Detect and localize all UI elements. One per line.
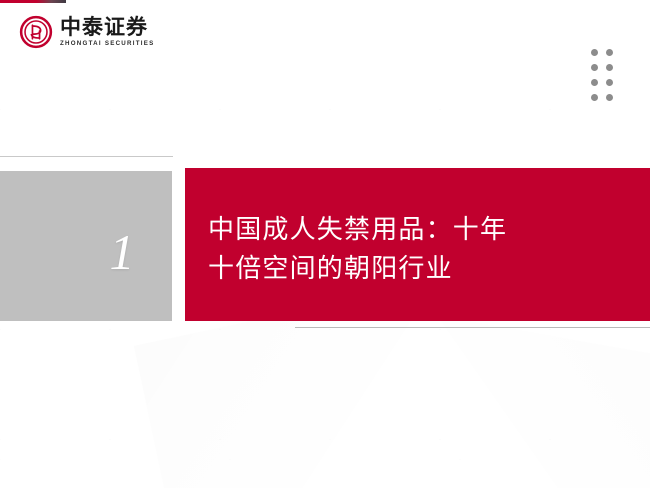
- brand-name-en: ZHONGTAI SECURITIES: [60, 41, 154, 47]
- grid-dot: [591, 94, 598, 101]
- decorative-dot-grid: [591, 49, 613, 101]
- brand-wordmark: 中泰证券 ZHONGTAI SECURITIES: [60, 17, 154, 47]
- brand-name-cn: 中泰证券: [60, 17, 154, 38]
- grid-dot: [606, 79, 613, 86]
- presentation-slide: 中泰证券 ZHONGTAI SECURITIES 1 中国成人失禁用品：十年 十…: [0, 0, 650, 488]
- grid-dot: [606, 64, 613, 71]
- section-title-banner: 中国成人失禁用品：十年 十倍空间的朝阳行业: [185, 168, 650, 321]
- section-title: 中国成人失禁用品：十年 十倍空间的朝阳行业: [208, 210, 618, 288]
- section-number: 1: [110, 223, 135, 281]
- divider-above-section-number: [0, 156, 173, 157]
- divider-below-title-banner: [295, 327, 650, 328]
- brand-logo: 中泰证券 ZHONGTAI SECURITIES: [19, 15, 154, 49]
- grid-dot: [591, 49, 598, 56]
- grid-dot: [591, 79, 598, 86]
- grid-dot: [591, 64, 598, 71]
- top-accent-bar: [0, 0, 66, 3]
- grid-dot: [606, 94, 613, 101]
- zhongtai-emblem-icon: [19, 15, 53, 49]
- section-number-block: 1: [0, 171, 172, 321]
- grid-dot: [606, 49, 613, 56]
